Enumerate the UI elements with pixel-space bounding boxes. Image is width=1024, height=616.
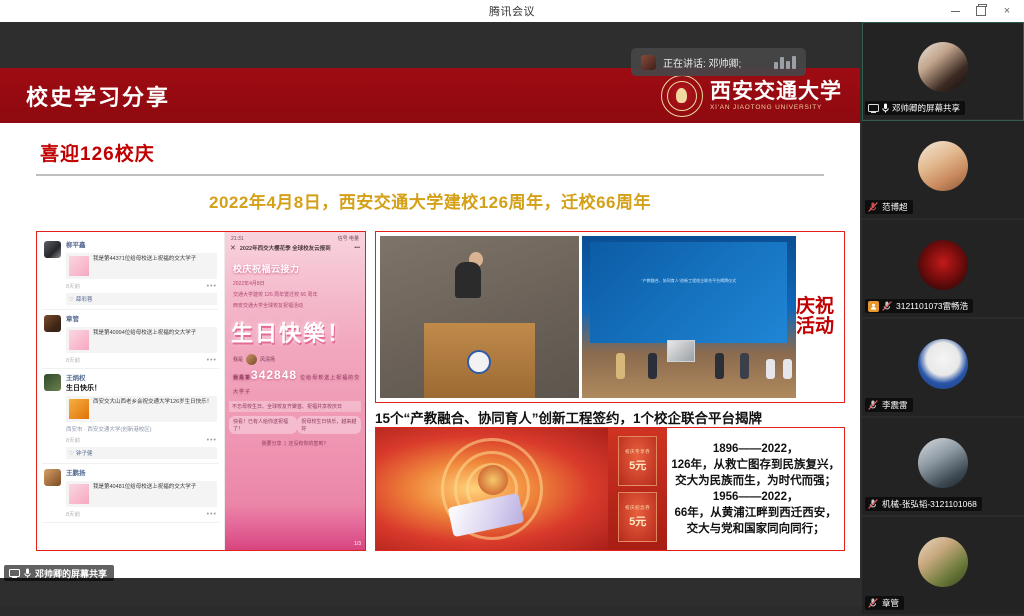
post-thumbnail [69, 484, 89, 504]
phone-user-row: 我是 风清扬 [233, 354, 365, 365]
history-panel: 校庆专享券 5元 校庆纪念券 5元 1896——2022， 126 [375, 427, 845, 551]
phone-line-1: 2022年4月8日 [233, 281, 365, 288]
wechat-moments-feed: 柳平鑫 我是第44371位给母校送上祝福的交大学子 8天前 ••• [37, 232, 225, 550]
chip-left[interactable]: 快看！已有人给你送祝福了！ [229, 416, 297, 434]
participant-name: 范博超 [882, 201, 908, 213]
history-line: 交大为民族而生，为时代而强； [675, 474, 836, 489]
share-status-label: 邓帅卿的屏幕共享 [35, 567, 107, 580]
birthday-text: 生日快樂！ [231, 316, 365, 348]
history-line: 1896——2022， [713, 442, 799, 457]
ceremony-photos: "产教融合、协同育人"创新工程校企联合平台揭牌仪式 [380, 236, 796, 398]
host-badge-icon [868, 301, 879, 312]
participant-label: 邓帅卿的屏幕共享 [865, 101, 965, 115]
avatar [918, 141, 968, 191]
relay-title: 校庆祝福云接力 [233, 262, 300, 275]
more-actions-icon[interactable]: ••• [207, 512, 217, 517]
close-button[interactable]: × [994, 1, 1020, 21]
slide-banner: 校史学习分享 西安交通大学 XI'AN JIAOTONG UNIVERSITY [0, 68, 860, 123]
participant-label: 机械-张弘韬-3121101068 [865, 497, 982, 511]
post-card-text: 我是第44371位给母校送上祝福的交大学子 [93, 256, 196, 276]
more-actions-icon[interactable]: ••• [207, 284, 217, 289]
screen-share-icon [868, 104, 879, 113]
history-line: 交大与党和国家同向同行； [687, 522, 825, 537]
history-line: 126年，从救亡图存到民族复兴， [671, 458, 840, 473]
microphone-muted-icon [868, 202, 879, 212]
participant-tile[interactable]: 邓帅卿的屏幕共享 [862, 22, 1024, 121]
shared-slide: 校史学习分享 西安交通大学 XI'AN JIAOTONG UNIVERSITY … [0, 68, 860, 578]
post-headline: 生日快乐！ [66, 384, 217, 393]
tencent-meeting-window: 腾讯会议 × 校史学习分享 西安交通大学 XI'AN JIAOTONG UNIV… [0, 0, 1024, 606]
moment-post: 柳平鑫 我是第44371位给母校送上祝福的交大学子 8天前 ••• [42, 236, 219, 310]
participant-name: 机械-张弘韬-3121101068 [882, 498, 977, 510]
post-card-text: 西安交大山西老乡会祝交通大学126岁生日快乐！ [93, 399, 212, 419]
section-divider [36, 174, 824, 176]
phone-status-bar: 21:31 信号 电量 [225, 232, 365, 242]
coupon-label: 校庆专享券 [625, 449, 650, 455]
coupon-amount: 5元 [629, 457, 646, 473]
university-seal-icon [661, 75, 703, 117]
signin-prompt[interactable]: 还没有你的签到？ [288, 441, 328, 447]
moment-post: 王炳权 生日快乐！ 西安交大山西老乡会祝交通大学126岁生日快乐！ 西安市 · … [42, 369, 219, 464]
post-card-text: 我是第40994位给母校送上祝福的交大学子 [93, 330, 196, 350]
microphone-icon [24, 568, 31, 578]
participant-tile[interactable]: 章管 [862, 517, 1024, 616]
section-subtitle: 2022年4月8日，西安交通大学建校126周年，迁校66周年 [0, 188, 860, 213]
phone-blessing-card: 21:31 信号 电量 ✕ 2022年西交大樱花季 全球校友云报到 ••• 校庆… [225, 232, 365, 550]
ceremony-photo-box: "产教融合、协同育人"创新工程校企联合平台揭牌仪式 [375, 231, 845, 403]
promo-illustration [376, 428, 608, 550]
participant-tile[interactable]: 3121101073雷畅浩 [862, 220, 1024, 319]
meeting-body: 校史学习分享 西安交通大学 XI'AN JIAOTONG UNIVERSITY … [0, 22, 1024, 606]
participant-label: 3121101073雷畅浩 [865, 299, 973, 313]
university-logo: 西安交通大学 XI'AN JIAOTONG UNIVERSITY [661, 75, 842, 117]
phone-nav-bar: ✕ 2022年西交大樱花季 全球校友云报到 ••• [225, 242, 365, 256]
speaking-label: 正在讲话: 邓帅卿; [663, 55, 741, 70]
share-button[interactable]: 我要分享 [262, 441, 282, 447]
photo-caption: 15个“产教融合、协同育人”创新工程签约，1个校企联合平台揭牌 [375, 407, 845, 427]
phone-share-row: 我要分享 | 还没有你的签到？ [225, 440, 365, 447]
phone-line-3: 西安交通大学全球校友祝福活动 [233, 303, 365, 310]
participant-tile[interactable]: 李震雷 [862, 319, 1024, 418]
avatar [44, 315, 61, 332]
more-actions-icon[interactable]: ••• [207, 358, 217, 363]
slide-banner-title: 校史学习分享 [26, 80, 170, 112]
audio-wave-icon [774, 56, 796, 69]
decorative-hills [225, 504, 365, 550]
like-name: 薛彩蓉 [76, 297, 93, 303]
status-time: 21:31 [231, 236, 244, 242]
participant-name: 3121101073雷畅浩 [896, 300, 968, 312]
photo-speaker-podium [380, 236, 579, 398]
screen-share-stage[interactable]: 校史学习分享 西安交通大学 XI'AN JIAOTONG UNIVERSITY … [0, 22, 860, 585]
restore-button[interactable] [968, 1, 994, 21]
more-actions-icon[interactable]: ••• [207, 438, 217, 443]
heart-icon: ♡ [69, 451, 74, 457]
screen-share-icon [9, 569, 20, 578]
moment-post: 王鹏扬 我是第40481位给母校送上祝福的交大学子 8天前 ••• [42, 464, 219, 523]
share-status-chip: 邓帅卿的屏幕共享 [4, 565, 114, 581]
status-icons: 信号 电量 [338, 235, 359, 242]
microphone-muted-icon [868, 400, 879, 410]
moment-post: 章管 我是第40994位给母校送上祝福的交大学子 8天前 ••• [42, 310, 219, 369]
window-title: 腾讯会议 [489, 3, 535, 19]
participant-tile[interactable]: 范博超 [862, 121, 1024, 220]
window-title-bar: 腾讯会议 × [0, 0, 1024, 23]
slide-content: 柳平鑫 我是第44371位给母校送上祝福的交大学子 8天前 ••• [0, 231, 860, 571]
post-time: 8天前 [66, 356, 80, 364]
microphone-muted-icon [868, 499, 879, 509]
right-column: "产教融合、协同育人"创新工程校企联合平台揭牌仪式 [375, 231, 845, 551]
microphone-muted-icon [868, 598, 879, 608]
participant-rail[interactable]: 邓帅卿的屏幕共享 范博超 [862, 22, 1024, 606]
university-name-en: XI'AN JIAOTONG UNIVERSITY [710, 105, 842, 112]
post-author: 章管 [66, 315, 217, 324]
chip-right[interactable]: 祝母校生日快乐，越来越好 [297, 416, 361, 434]
avatar [246, 354, 257, 365]
coupon-label: 校庆纪念券 [625, 505, 650, 511]
photo-signing-stage: "产教融合、协同育人"创新工程校企联合平台揭牌仪式 [582, 236, 796, 398]
page-indicator: 1/3 [354, 541, 361, 547]
speaking-indicator: 正在讲话: 邓帅卿; [631, 48, 806, 76]
participant-name: 李震雷 [882, 399, 908, 411]
participant-tile[interactable]: 机械-张弘韬-3121101068 [862, 418, 1024, 517]
avatar [918, 537, 968, 587]
me-name: 风清扬 [260, 356, 275, 363]
post-card-text: 我是第40481位给母校送上祝福的交大学子 [93, 484, 196, 504]
avatar [918, 240, 968, 290]
avatar [918, 438, 968, 488]
avatar [44, 374, 61, 391]
avatar [44, 241, 61, 258]
post-location: 西安市 · 西安交通大学(创新港校区) [66, 425, 217, 433]
phone-nav-title: 2022年西交大樱花季 全球校友云报到 [240, 244, 350, 252]
me-label: 我是 [233, 356, 243, 363]
blessing-counter: 342848 [251, 368, 297, 382]
history-line: 66年，从黄浦江畔到西迁西安， [675, 506, 837, 521]
post-time: 8天前 [66, 510, 80, 518]
participant-label: 范博超 [865, 200, 913, 214]
post-thumbnail [69, 330, 89, 350]
stage-screen-text: "产教融合、协同育人"创新工程校企联合平台揭牌仪式 [599, 278, 779, 284]
section-heading: 喜迎126校庆 [40, 139, 860, 166]
avatar [918, 42, 968, 92]
history-text-panel: 1896——2022， 126年，从救亡图存到民族复兴， 交大为民族而生，为时代… [667, 428, 844, 550]
post-thumbnail [69, 256, 89, 276]
post-likes: ♡钟子健 [66, 447, 217, 459]
blessing-counter-row: 我是第342848位给母校送上祝福的交大学子 [233, 368, 365, 396]
coupon-stack: 校庆专享券 5元 校庆纪念券 5元 [608, 428, 667, 550]
coupon-item[interactable]: 校庆专享券 5元 [618, 436, 657, 486]
post-card: 我是第40481位给母校送上祝福的交大学子 [66, 481, 217, 507]
post-card: 我是第40994位给母校送上祝福的交大学子 [66, 327, 217, 353]
university-name-cn: 西安交通大学 [710, 81, 842, 102]
post-time: 8天前 [66, 436, 80, 444]
moments-panel: 柳平鑫 我是第44371位给母校送上祝福的交大学子 8天前 ••• [36, 231, 366, 551]
post-likes: ♡薛彩蓉 [66, 293, 217, 305]
post-author: 柳平鑫 [66, 241, 217, 250]
counter-prefix: 我是第 [233, 375, 251, 381]
minimize-button[interactable] [942, 1, 968, 21]
participant-label: 李震雷 [865, 398, 913, 412]
window-controls: × [942, 0, 1020, 22]
coupon-item[interactable]: 校庆纪念券 5元 [618, 492, 657, 542]
post-card: 西安交大山西老乡会祝交通大学126岁生日快乐！ [66, 396, 217, 422]
post-author: 王炳权 生日快乐！ [66, 374, 217, 393]
like-name: 钟子健 [76, 451, 93, 457]
phone-tagline: 不忘母校生日、全球校友齐聚首、祝福共享校庆日 [229, 401, 361, 412]
microphone-muted-icon [882, 301, 893, 311]
speaker-avatar [641, 55, 656, 70]
celebration-vertical-title: 庆祝活动 [796, 236, 840, 398]
phone-line-2: 交通大学建校 126 周年暨迁校 66 周年 [233, 292, 365, 299]
post-author: 王鹏扬 [66, 469, 217, 478]
avatar [918, 339, 968, 389]
heart-icon: ♡ [69, 297, 74, 303]
university-name-block: 西安交通大学 XI'AN JIAOTONG UNIVERSITY [710, 81, 842, 112]
microphone-icon [882, 103, 889, 113]
participant-label: 章管 [865, 596, 904, 610]
close-icon[interactable]: ✕ [230, 244, 236, 252]
history-line: 1956——2022， [713, 490, 799, 505]
coupon-amount: 5元 [629, 513, 646, 529]
participant-name: 邓帅卿的屏幕共享 [892, 102, 960, 114]
participant-name: 章管 [882, 597, 899, 609]
post-time: 8天前 [66, 282, 80, 290]
post-card: 我是第44371位给母校送上祝福的交大学子 [66, 253, 217, 279]
phone-chip-row: 快看！已有人给你送祝福了！ 祝母校生日快乐，越来越好 [229, 416, 361, 434]
more-icon[interactable]: ••• [354, 245, 360, 251]
post-thumbnail [69, 399, 89, 419]
avatar [44, 469, 61, 486]
